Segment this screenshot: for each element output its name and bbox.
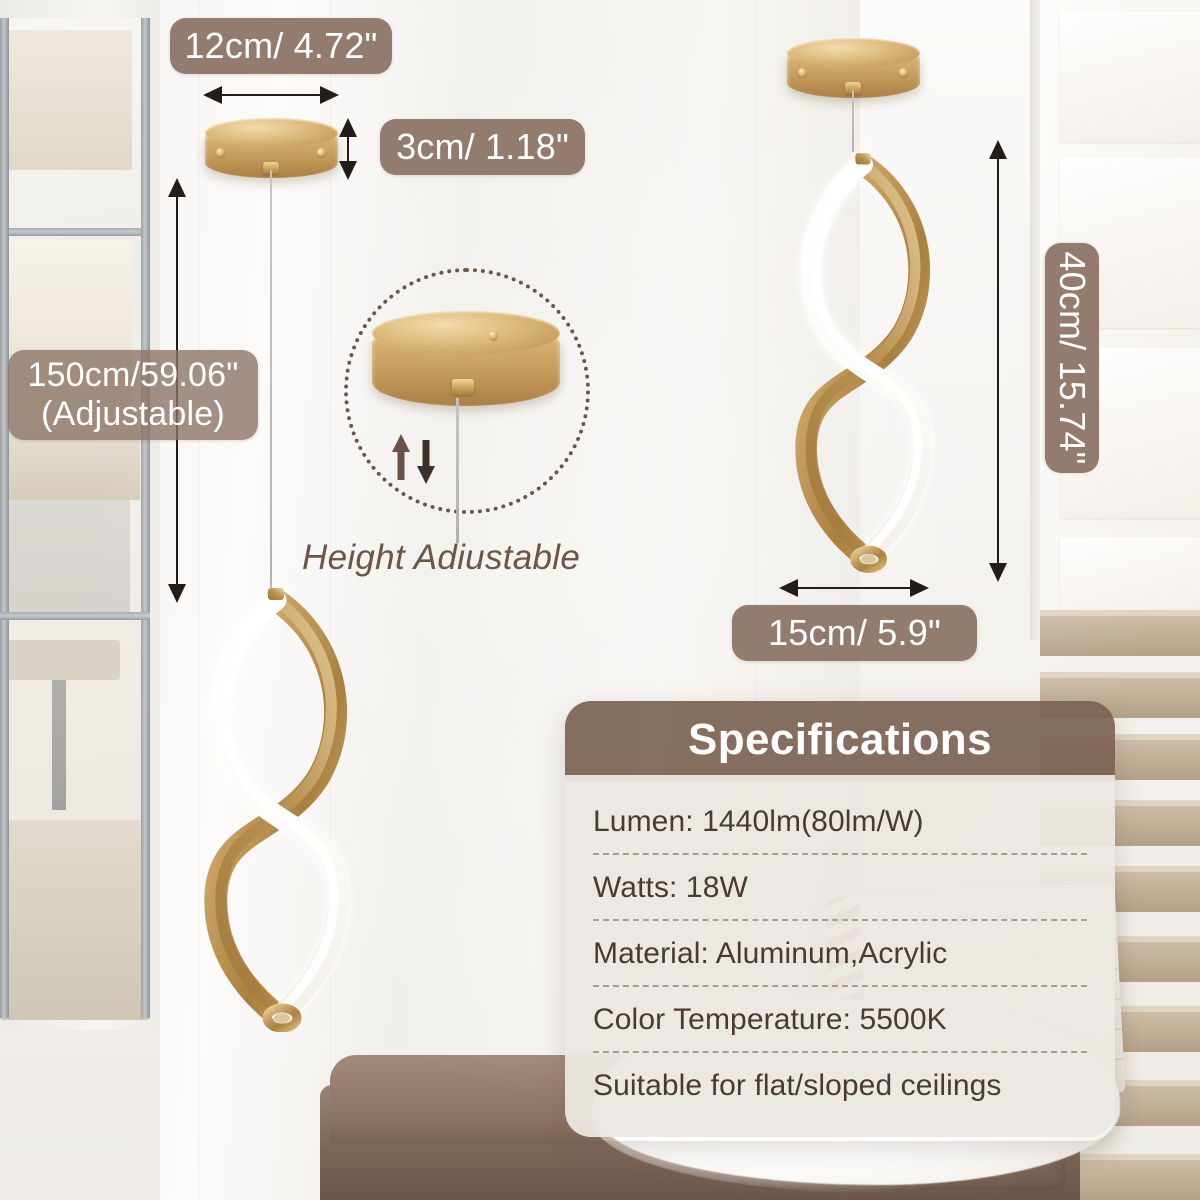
- spec-row-material: Material: Aluminum,Acrylic: [591, 921, 1089, 985]
- spec-row-watts: Watts: 18W: [591, 855, 1089, 919]
- height-adjustable-caption: Height Adiustable: [302, 538, 580, 578]
- canopy-top-face: [372, 311, 560, 355]
- arrow-left-icon: [779, 579, 798, 597]
- specifications-body: Lumen: 1440lm(80lm/W) Watts: 18W Materia…: [565, 775, 1115, 1137]
- arrow-shaft: [788, 587, 920, 589]
- canopy-center-nut: [452, 379, 474, 395]
- canopy-screw: [489, 331, 498, 340]
- arrow-shaft: [997, 150, 999, 572]
- arrow-left-icon: [203, 86, 222, 104]
- arrow-down-icon: [339, 161, 357, 180]
- lamp-cord-closeup: [456, 398, 459, 543]
- arrow-down-icon: [168, 584, 186, 603]
- arrow-down-icon: [989, 563, 1007, 582]
- arrow-up-icon: [168, 178, 186, 197]
- canopy-right: [787, 38, 920, 96]
- canopy-detail-closeup: [372, 311, 560, 406]
- height-adjust-icon: [388, 430, 442, 490]
- dimension-arrow-canopy-height: [338, 118, 358, 180]
- dimension-arrow-fixture-width: [779, 578, 929, 598]
- label-fixture-height: 40cm/ 15.74": [1045, 243, 1099, 473]
- spec-row-lumen: Lumen: 1440lm(80lm/W): [591, 789, 1089, 853]
- canopy-top-face: [787, 38, 920, 68]
- specifications-card: Specifications Lumen: 1440lm(80lm/W) Wat…: [565, 701, 1115, 1141]
- label-fixture-width: 15cm/ 5.9": [732, 605, 977, 661]
- spec-row-ceiling-compatibility: Suitable for flat/sloped ceilings: [591, 1053, 1089, 1117]
- dimension-arrow-canopy-diameter: [203, 85, 339, 105]
- arrow-right-icon: [910, 579, 929, 597]
- infographic-stage: Height Adiustable 12cm/ 4.72" 3cm/ 1.18"…: [0, 0, 1200, 1200]
- canopy-screw: [899, 68, 908, 77]
- label-cord-length: 150cm/59.06" (Adjustable): [8, 350, 258, 440]
- label-canopy-height: 3cm/ 1.18": [380, 119, 585, 175]
- arrow-up-icon: [339, 118, 357, 137]
- spiral-fixture-right: [778, 140, 948, 580]
- canopy-screw: [798, 68, 807, 77]
- dimension-arrow-fixture-height: [988, 140, 1008, 582]
- arrow-up-icon: [989, 140, 1007, 159]
- arrow-shaft: [212, 94, 330, 96]
- spec-row-color-temperature: Color Temperature: 5500K: [591, 987, 1089, 1051]
- arrow-right-icon: [320, 86, 339, 104]
- specifications-title: Specifications: [565, 701, 1115, 781]
- label-canopy-diameter: 12cm/ 4.72": [170, 18, 392, 74]
